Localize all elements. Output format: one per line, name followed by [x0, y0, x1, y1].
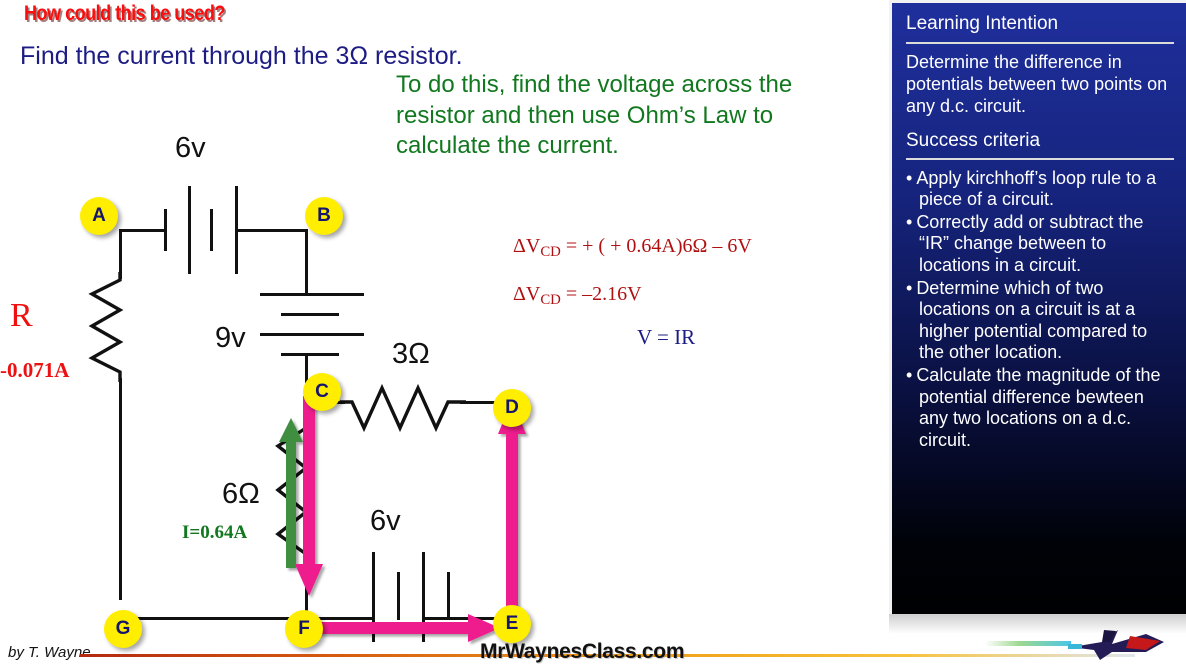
success-criteria-list: Apply kirchhoff’s loop rule to a piece o…: [904, 168, 1176, 452]
battery-mid-plate-1: [260, 293, 364, 296]
sidebar-divider-2: [906, 158, 1174, 160]
wire-battery-to-b: [236, 229, 308, 232]
instruction-note: To do this, find the voltage across the …: [396, 70, 844, 162]
wire-left-rail: [119, 378, 122, 600]
node-g[interactable]: G: [104, 610, 142, 648]
jet-logo-icon: [1060, 622, 1170, 662]
resistor-3ohm-symbol: [340, 386, 466, 440]
resistor-r-label: R: [10, 297, 33, 335]
equation-1-rhs: = + ( + 0.64A)6Ω – 6V: [561, 235, 752, 257]
resistor-six-label: 6Ω: [222, 478, 260, 511]
resistor-three-label: 3Ω: [392, 338, 430, 371]
node-f[interactable]: F: [285, 610, 323, 648]
battery-top-plate-2: [188, 186, 191, 274]
battery-bottom-label: 6v: [370, 505, 401, 538]
slide-subtitle: Find the current through the 3Ω resistor…: [20, 42, 463, 71]
battery-bottom-plate-2: [397, 572, 400, 620]
battery-top-plate-3: [210, 209, 213, 251]
resistor-r-current: -0.071A: [0, 358, 69, 383]
loop-arrow-f-to-e: [300, 614, 500, 642]
jet-trail: [985, 641, 1071, 646]
website-label: MrWaynesClass.com: [480, 640, 684, 664]
resistor-six-current: I=0.64A: [182, 522, 247, 544]
battery-top-label: 6v: [175, 132, 206, 165]
equation-2-lhs: ΔV: [513, 283, 540, 305]
loop-arrow-e-to-d: [498, 400, 526, 618]
author-byline: by T. Wayne: [8, 644, 91, 661]
node-a[interactable]: A: [80, 197, 118, 235]
battery-mid-plate-4: [281, 353, 339, 356]
loop-arrow-c-to-f: [295, 396, 323, 596]
node-c[interactable]: C: [303, 373, 341, 411]
sidebar-heading-criteria: Success criteria: [906, 130, 1176, 152]
equation-1-lhs: ΔV: [513, 235, 540, 257]
learning-intention-panel: Learning Intention Determine the differe…: [889, 0, 1186, 632]
node-e[interactable]: E: [493, 605, 531, 643]
equation-line-2: ΔVCD = –2.16V: [513, 283, 642, 309]
criteria-item: Calculate the magnitude of the potential…: [906, 365, 1176, 451]
criteria-item: Correctly add or subtract the “IR” chang…: [906, 212, 1176, 277]
criteria-item: Determine which of two locations on a ci…: [906, 278, 1176, 364]
sidebar-intention-text: Determine the difference in potentials b…: [906, 52, 1176, 118]
equation-1-subscript: CD: [540, 244, 561, 260]
resistor-r-symbol: [84, 272, 164, 382]
node-d[interactable]: D: [493, 389, 531, 427]
sidebar-divider-1: [906, 42, 1174, 44]
equation-2-rhs: = –2.16V: [561, 283, 642, 305]
slide-kicker: How could this be used?: [24, 2, 225, 26]
equation-2-subscript: CD: [540, 292, 561, 308]
slide-canvas: How could this be used? Find the current…: [0, 0, 1186, 667]
battery-mid-label: 9v: [215, 322, 246, 355]
node-b[interactable]: B: [305, 197, 343, 235]
battery-mid-plate-2: [281, 313, 339, 316]
sidebar-heading-intention: Learning Intention: [906, 13, 1176, 36]
ohms-law-equation: V = IR: [637, 325, 695, 350]
wire-a-to-battery: [119, 229, 165, 232]
battery-mid-plate-3: [260, 333, 364, 336]
equation-line-1: ΔVCD = + ( + 0.64A)6Ω – 6V: [513, 235, 752, 261]
battery-bottom-plate-4: [447, 572, 450, 620]
criteria-item: Apply kirchhoff’s loop rule to a piece o…: [906, 168, 1176, 211]
battery-top-plate-1: [164, 209, 167, 251]
wire-b-down: [305, 229, 308, 295]
